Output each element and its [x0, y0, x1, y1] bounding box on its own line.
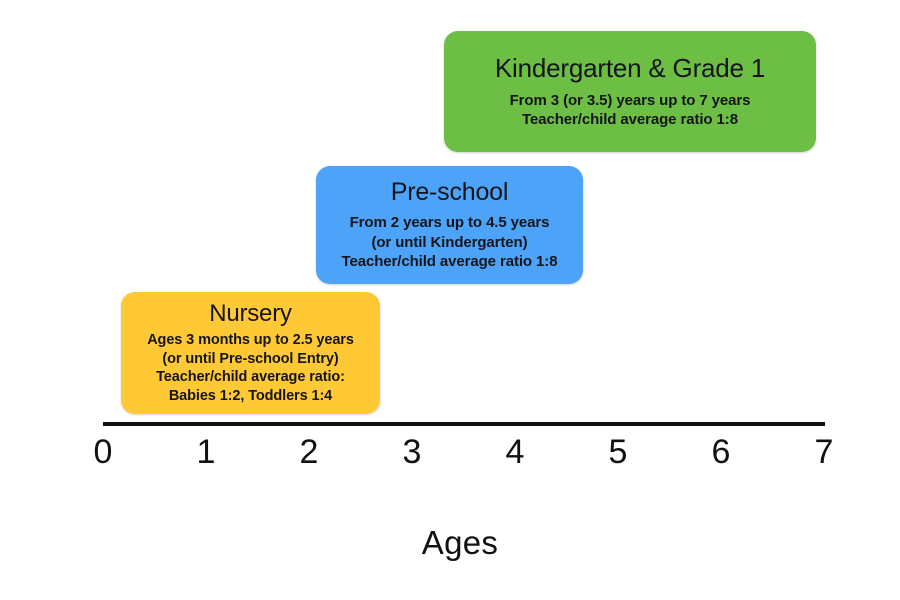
- stage-details-nursery: Ages 3 months up to 2.5 years (or until …: [147, 331, 354, 405]
- age-axis-ticks: 01234567: [0, 430, 900, 478]
- stage-details-kindergarten: From 3 (or 3.5) years up to 7 years Teac…: [510, 91, 751, 129]
- age-stages-diagram: Kindergarten & Grade 1 From 3 (or 3.5) y…: [0, 0, 900, 600]
- stage-detail-line: Teacher/child average ratio 1:8: [342, 252, 558, 271]
- stage-detail-line: Teacher/child average ratio 1:8: [510, 110, 751, 129]
- stage-title-preschool: Pre-school: [391, 179, 509, 207]
- stage-box-nursery[interactable]: Nursery Ages 3 months up to 2.5 years (o…: [121, 292, 380, 414]
- stage-box-kindergarten[interactable]: Kindergarten & Grade 1 From 3 (or 3.5) y…: [444, 31, 816, 152]
- stage-detail-line: From 3 (or 3.5) years up to 7 years: [510, 91, 751, 110]
- stage-title-nursery: Nursery: [209, 301, 292, 327]
- axis-tick-label: 3: [382, 430, 442, 474]
- age-axis-line: [103, 422, 825, 426]
- axis-tick-label: 5: [588, 430, 648, 474]
- axis-tick-label: 1: [176, 430, 236, 474]
- axis-tick-label: 2: [279, 430, 339, 474]
- axis-tick-label: 0: [73, 430, 133, 474]
- stage-detail-line: Babies 1:2, Toddlers 1:4: [147, 387, 354, 406]
- stage-box-preschool[interactable]: Pre-school From 2 years up to 4.5 years …: [316, 166, 583, 284]
- stage-detail-line: Teacher/child average ratio:: [147, 368, 354, 387]
- stage-detail-line: From 2 years up to 4.5 years: [342, 213, 558, 232]
- axis-tick-label: 4: [485, 430, 545, 474]
- axis-caption-ages: Ages: [0, 524, 900, 562]
- stage-title-kindergarten: Kindergarten & Grade 1: [495, 54, 765, 83]
- stage-detail-line: Ages 3 months up to 2.5 years: [147, 331, 354, 350]
- stage-detail-line: (or until Pre-school Entry): [147, 350, 354, 369]
- stage-details-preschool: From 2 years up to 4.5 years (or until K…: [342, 213, 558, 271]
- axis-tick-label: 7: [794, 430, 854, 474]
- stage-detail-line: (or until Kindergarten): [342, 233, 558, 252]
- axis-tick-label: 6: [691, 430, 751, 474]
